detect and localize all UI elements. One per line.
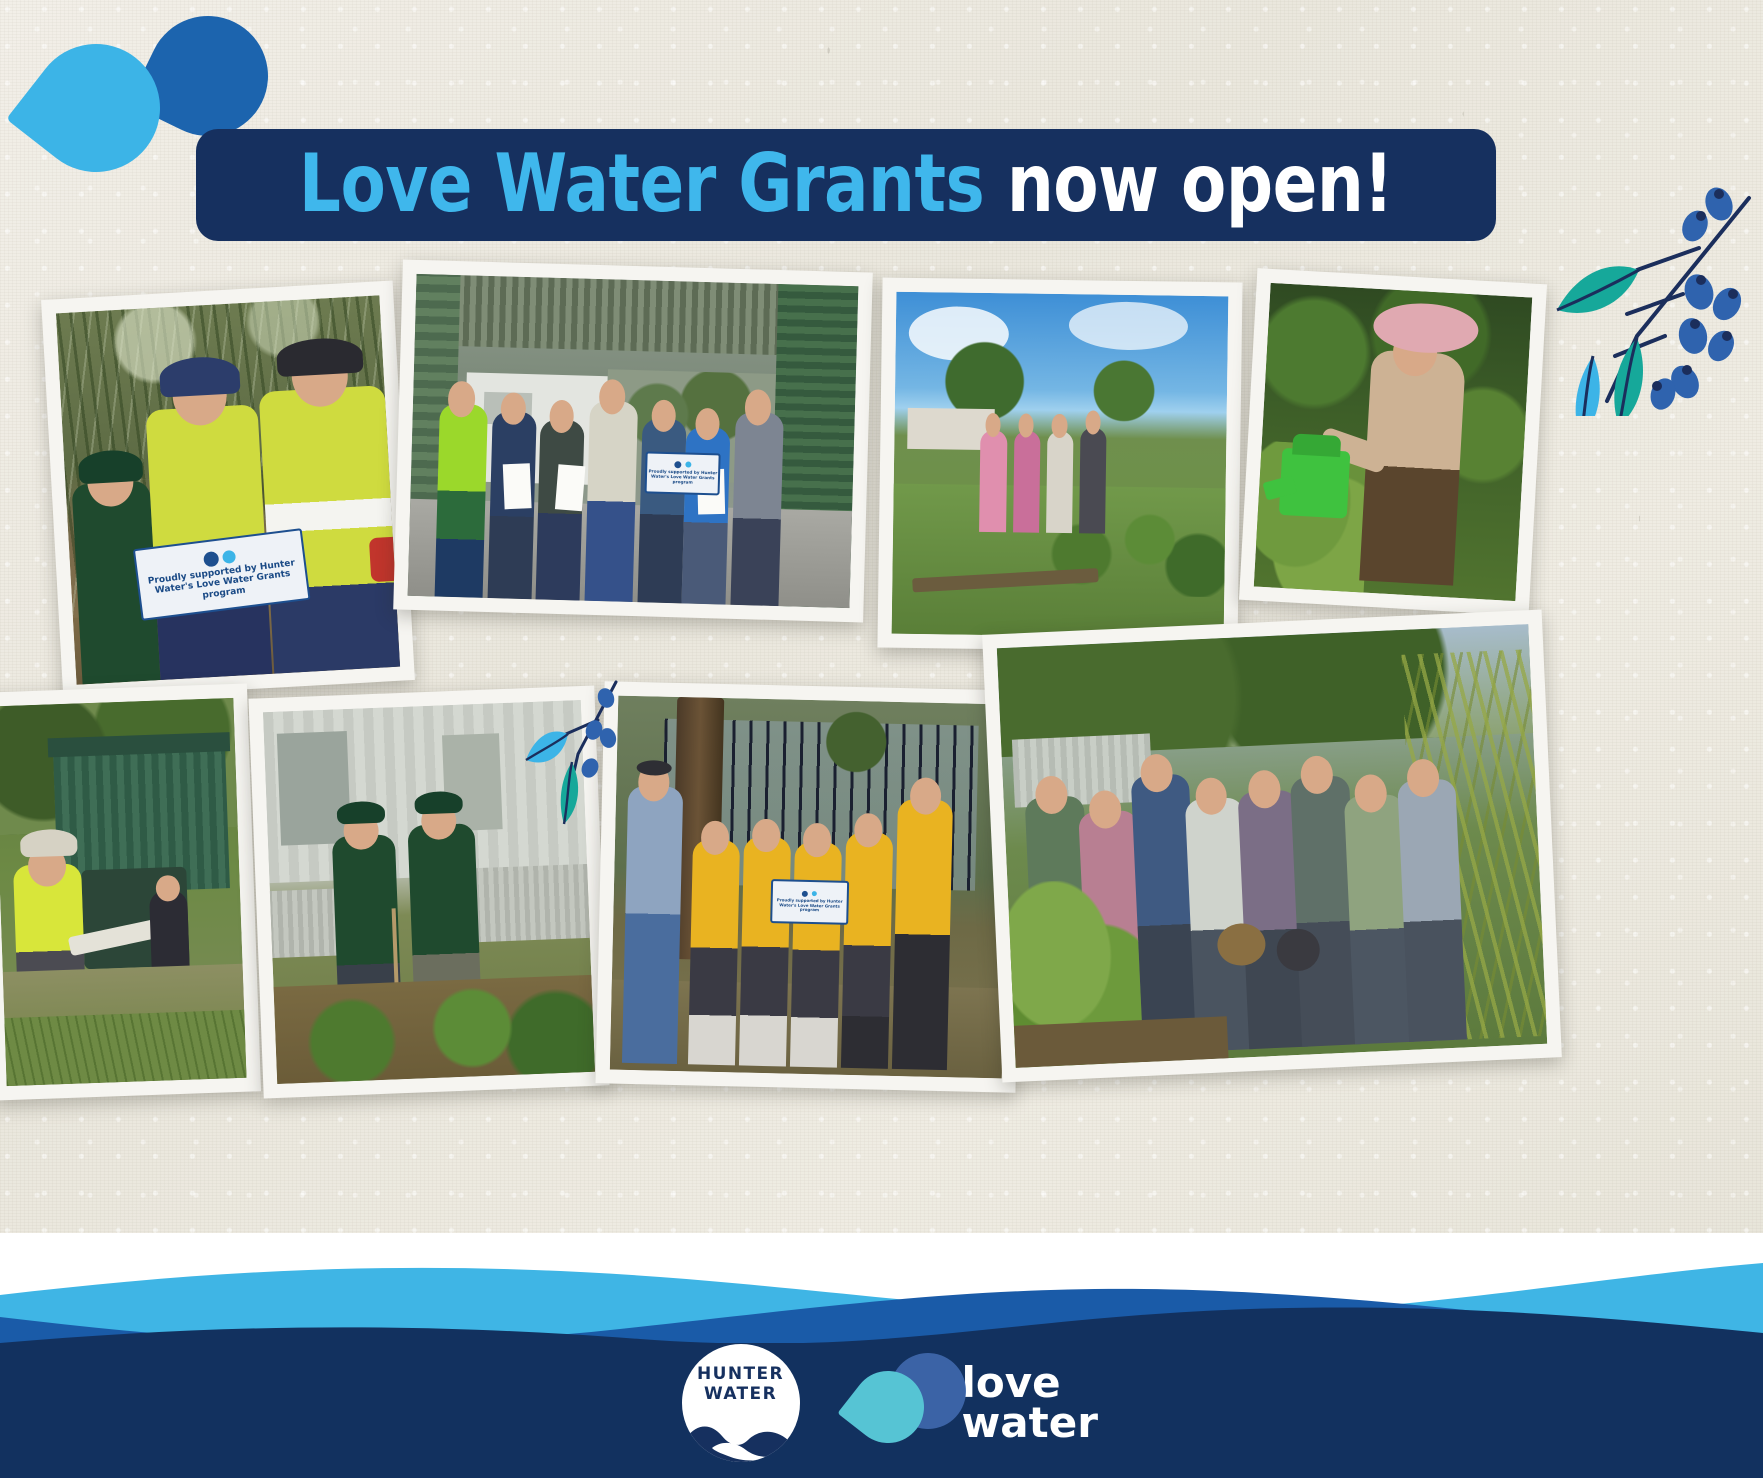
eucalyptus-sprig-top-right-icon: [1487, 186, 1757, 416]
headline-banner: Love Water Grants now open!: [196, 129, 1496, 241]
love-water-line-1: love: [962, 1363, 1098, 1403]
headline-highlight: Love Water Grants: [299, 138, 984, 231]
grant-sign-text: Proudly supported by Hunter Water's Love…: [772, 898, 847, 914]
hunter-water-logo: HUNTER WATER: [682, 1344, 800, 1462]
grant-sign: Proudly supported by Hunter Water's Love…: [645, 451, 721, 495]
hunter-water-wave-icon: [682, 1412, 800, 1462]
love-water-logo: love water: [852, 1347, 1082, 1459]
eucalyptus-sprig-middle-icon: [520, 676, 630, 826]
grant-sign-text: Proudly supported by Hunter Water's Love…: [647, 469, 719, 486]
photo-school-students: Proudly supported by Hunter Water's Love…: [595, 681, 1024, 1092]
photo-shed-group: Proudly supported by Hunter Water's Love…: [393, 260, 873, 623]
photo-bushcare-team: Proudly supported by Hunter Water's Love…: [41, 280, 415, 699]
photo-community-garden-group: [982, 610, 1562, 1083]
footer: HUNTER WATER love water: [0, 1233, 1763, 1478]
sign-logo-row: [203, 548, 237, 567]
page-title: Love Water Grants now open!: [299, 145, 1393, 225]
love-water-wordmark: love water: [962, 1363, 1098, 1444]
hunter-water-line-1: HUNTER: [697, 1364, 784, 1384]
hunter-water-line-2: WATER: [704, 1384, 777, 1404]
photo-garden-four: [877, 278, 1242, 653]
love-water-hearts-icon: [852, 1351, 956, 1455]
headline-plain: now open!: [1007, 138, 1393, 231]
poster-canvas: Love Water Grants now open!: [0, 0, 1763, 1478]
love-water-line-2: water: [962, 1403, 1098, 1443]
photo-rainwater-tank: [0, 683, 261, 1100]
footer-logo-row: HUNTER WATER love water: [0, 1328, 1763, 1478]
grant-sign: Proudly supported by Hunter Water's Love…: [770, 879, 849, 926]
